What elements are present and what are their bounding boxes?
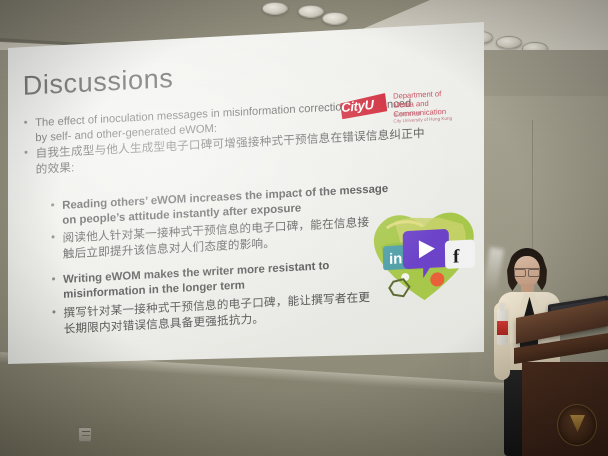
downlight-icon bbox=[262, 2, 288, 15]
cityu-logo-text: CityU bbox=[341, 97, 374, 115]
svg-text:f: f bbox=[453, 246, 460, 267]
presenter-glasses-icon bbox=[514, 268, 540, 274]
bottle-label bbox=[497, 321, 508, 335]
podium-crest-icon bbox=[557, 404, 597, 446]
logo-university-name: 香港城市大學 City University of Hong Kong bbox=[393, 110, 452, 124]
cityu-logo: CityU Department of Media and Communicat… bbox=[337, 85, 479, 132]
wooden-podium bbox=[516, 318, 608, 456]
slide-title: Discussions bbox=[23, 63, 174, 102]
bullet-dot-icon bbox=[51, 203, 54, 206]
lecture-room-photo: Discussions The effect of inoculation me… bbox=[0, 0, 608, 456]
projection-screen: Discussions The effect of inoculation me… bbox=[0, 0, 500, 400]
bullet-dot-icon bbox=[25, 151, 28, 154]
bullet-dot-icon bbox=[24, 121, 27, 124]
svg-text:in: in bbox=[389, 250, 403, 268]
downlight-icon bbox=[322, 12, 348, 25]
downlight-icon bbox=[496, 36, 522, 49]
downlight-icon bbox=[298, 5, 324, 18]
bullet-dot-icon bbox=[52, 235, 55, 238]
bullet-dot-icon bbox=[52, 310, 55, 313]
water-bottle bbox=[497, 301, 508, 345]
social-media-heart-graphic: in f bbox=[364, 197, 483, 307]
cityu-logo-mark-icon: CityU bbox=[337, 93, 387, 120]
bullet-dot-icon bbox=[52, 277, 55, 280]
power-socket bbox=[78, 427, 92, 442]
bottle-cap bbox=[500, 303, 505, 311]
